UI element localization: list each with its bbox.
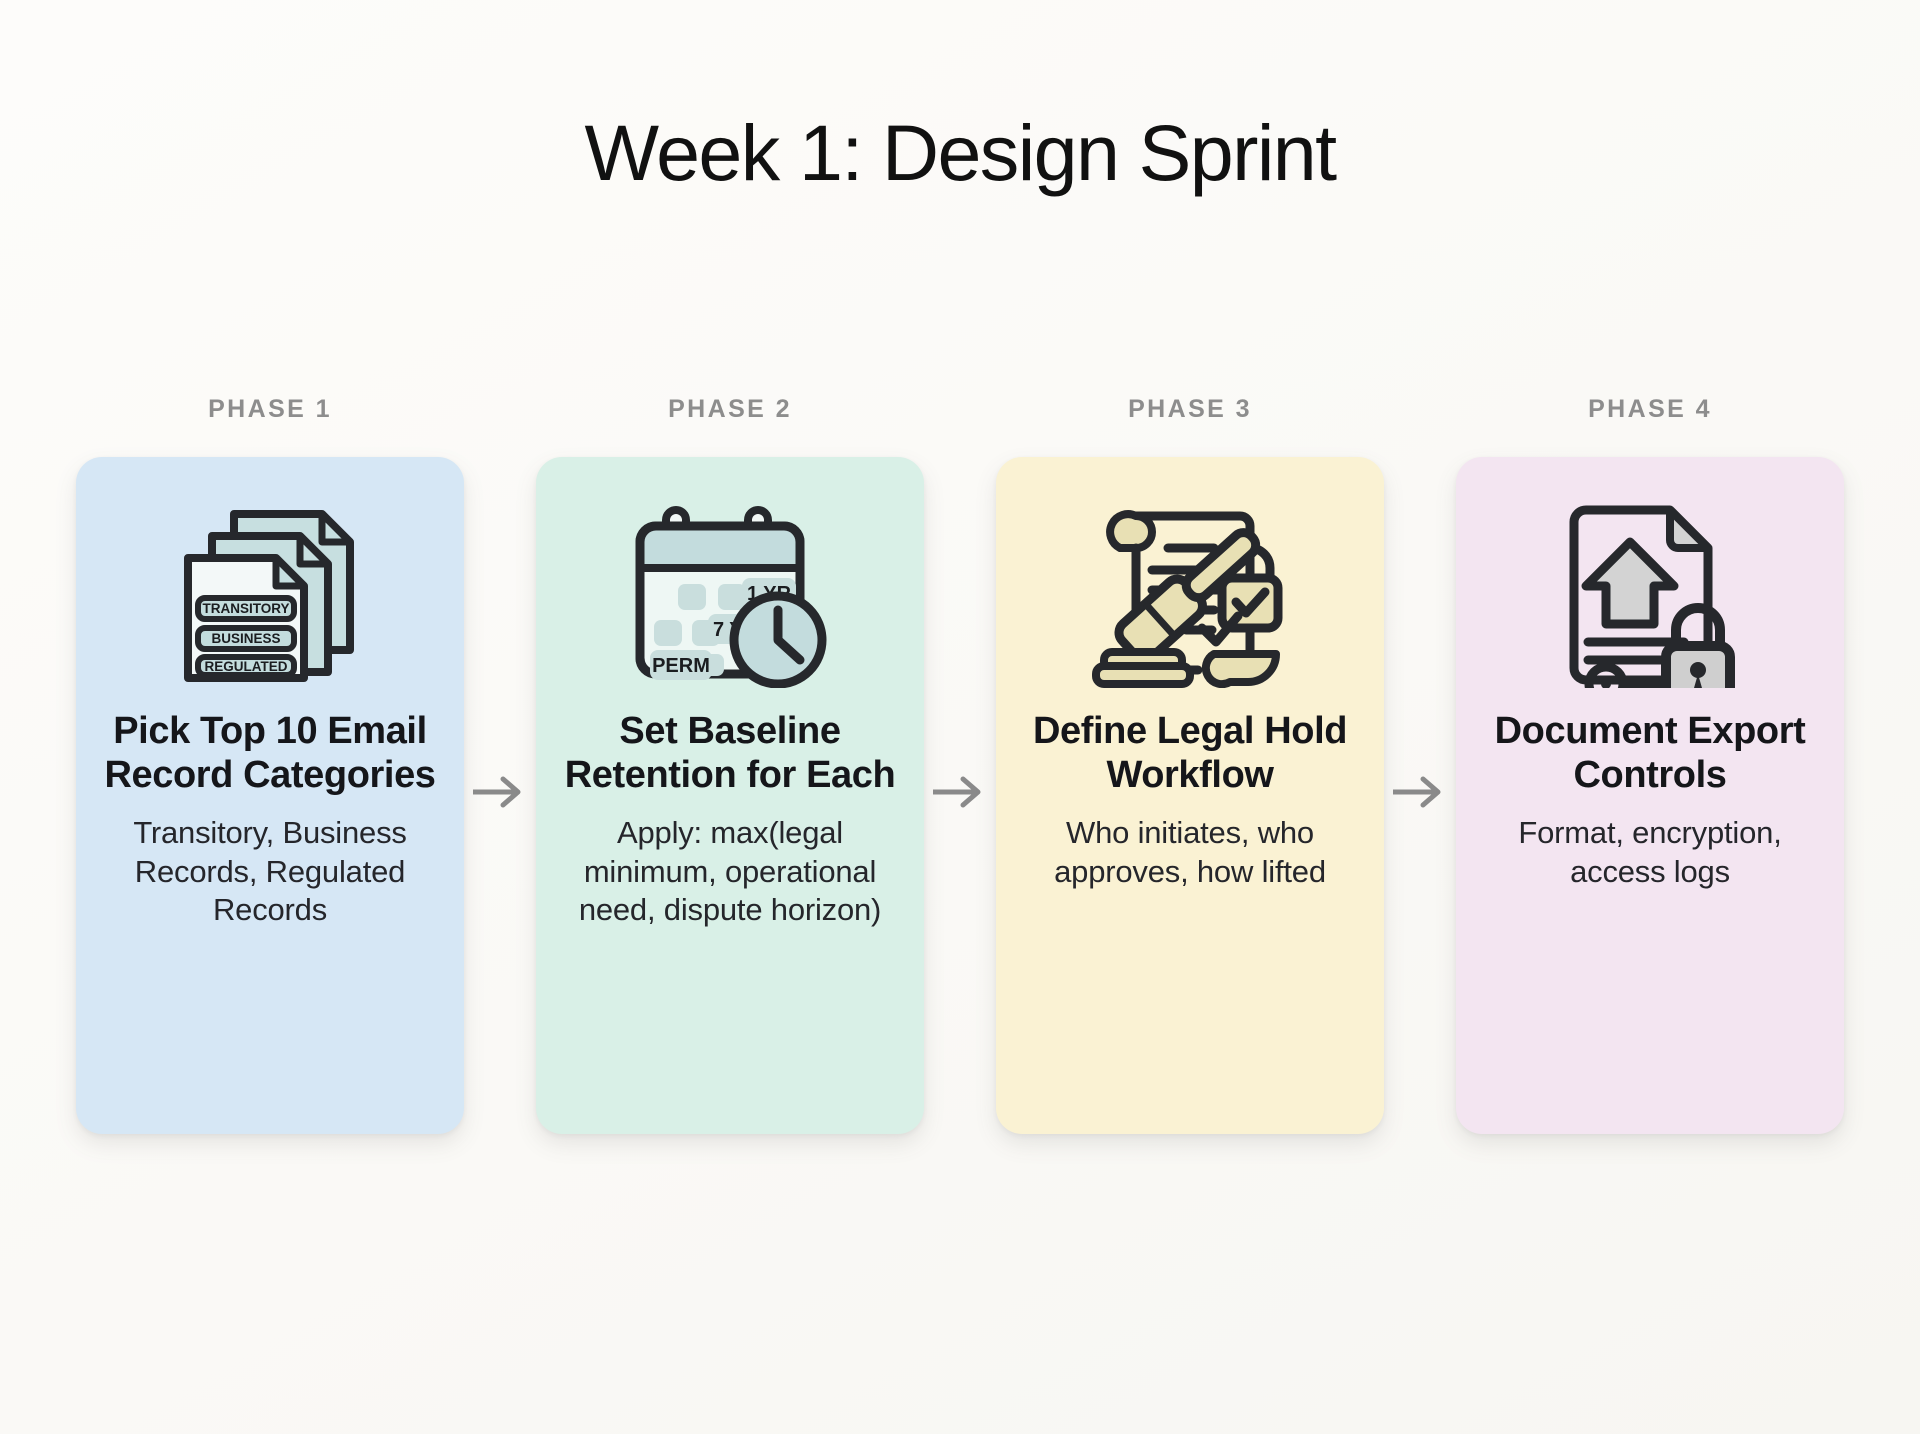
icon-tag-transitory: TRANSITORY (202, 601, 289, 616)
phase-card-title-4: Document Export Controls (1482, 709, 1818, 798)
page-title: Week 1: Design Sprint (585, 112, 1336, 195)
phase-label-3: PHASE 3 (1128, 395, 1252, 424)
icon-tag-business: BUSINESS (211, 631, 280, 646)
phase-card-3[interactable]: Define Legal Hold Workflow Who initiates… (996, 457, 1384, 1134)
phase-column-1: PHASE 1 (76, 395, 464, 1134)
phase-column-4: PHASE 4 (1456, 395, 1844, 1134)
phase-label-1: PHASE 1 (208, 395, 332, 424)
stacked-documents-icon: TRANSITORY BUSINESS REGULATED (172, 495, 368, 695)
phase-column-2: PHASE 2 (536, 395, 924, 1134)
phase-flow: PHASE 1 (0, 395, 1920, 1134)
calendar-clock-icon: 1 YR 7 YR PERM (630, 495, 830, 695)
icon-tag-regulated: REGULATED (205, 659, 288, 674)
phase-card-description-3: Who initiates, who approves, how lifted (1022, 814, 1358, 892)
phase-card-title-1: Pick Top 10 Email Record Categories (102, 709, 438, 798)
phase-card-1[interactable]: TRANSITORY BUSINESS REGULATED Pick Top 1… (76, 457, 464, 1134)
icon-tag-perm: PERM (652, 655, 710, 677)
phase-card-description-1: Transitory, Business Records, Regulated … (102, 814, 438, 930)
slide-canvas: Week 1: Design Sprint PHASE 1 (0, 0, 1920, 1434)
gavel-scroll-lock-icon (1090, 495, 1290, 695)
phase-card-title-2: Set Baseline Retention for Each (562, 709, 898, 798)
phase-card-2[interactable]: 1 YR 7 YR PERM Set Baseline Retention fo… (536, 457, 924, 1134)
phase-card-4[interactable]: Document Export Controls Format, encrypt… (1456, 457, 1844, 1134)
phase-label-4: PHASE 4 (1588, 395, 1712, 424)
arrow-right-icon-1 (464, 453, 536, 1130)
arrow-right-icon-3 (1384, 453, 1456, 1130)
phase-card-description-4: Format, encryption, access logs (1482, 814, 1818, 892)
phase-label-2: PHASE 2 (668, 395, 792, 424)
document-upload-key-lock-icon (1552, 495, 1748, 695)
phase-card-title-3: Define Legal Hold Workflow (1022, 709, 1358, 798)
arrow-right-icon-2 (924, 453, 996, 1130)
phase-column-3: PHASE 3 (996, 395, 1384, 1134)
phase-card-description-2: Apply: max(legal minimum, operational ne… (562, 814, 898, 930)
